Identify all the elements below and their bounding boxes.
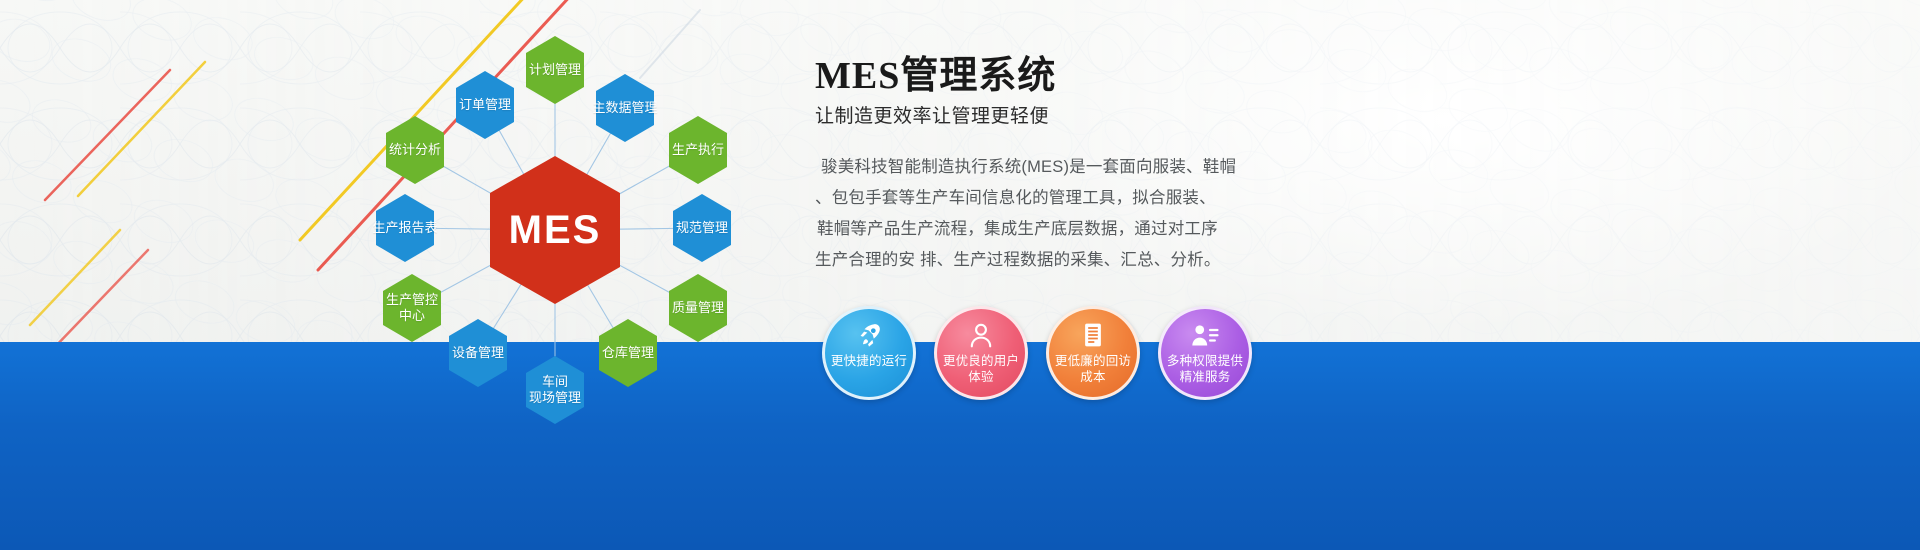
user-icon bbox=[937, 318, 1025, 352]
description-line-2: 、包包手套等生产车间信息化的管理工具，拟合服装、 bbox=[815, 183, 1295, 214]
description-line-4: 生产合理的安 排、生产过程数据的采集、汇总、分析。 bbox=[815, 245, 1295, 276]
badge-label: 多种权限提供 精准服务 bbox=[1165, 353, 1245, 385]
page-title: MES管理系统 bbox=[815, 52, 1295, 100]
hex-label-0[interactable]: 计划管理 bbox=[509, 62, 601, 78]
hex-label-5[interactable]: 生产报告表 bbox=[359, 220, 451, 236]
mes-hex-diagram: MES 计划管理 订单管理 主数据管理 统计分析 生产执行 生产报告表 规范管理… bbox=[330, 20, 780, 440]
hex-label-3[interactable]: 统计分析 bbox=[369, 142, 461, 158]
hex-label-11[interactable]: 车间 现场管理 bbox=[509, 374, 601, 406]
hex-label-10[interactable]: 仓库管理 bbox=[582, 345, 674, 361]
description-line-3: 鞋帽等产品生产流程，集成生产底层数据，通过对工序 bbox=[815, 214, 1295, 245]
hex-label-9[interactable]: 设备管理 bbox=[432, 345, 524, 361]
rocket-icon bbox=[825, 318, 913, 352]
hex-label-6[interactable]: 规范管理 bbox=[656, 220, 748, 236]
feature-badges: 更快捷的运行 更优良的用户 体验 bbox=[822, 306, 1272, 404]
user-list-icon bbox=[1161, 318, 1249, 352]
hex-label-2[interactable]: 主数据管理 bbox=[579, 100, 671, 116]
badge-better-user-experience[interactable]: 更优良的用户 体验 bbox=[934, 306, 1028, 400]
hex-center-label: MES bbox=[480, 208, 630, 253]
mes-banner: MES 计划管理 订单管理 主数据管理 统计分析 生产执行 生产报告表 规范管理… bbox=[0, 0, 1920, 550]
badge-faster-operation[interactable]: 更快捷的运行 bbox=[822, 306, 916, 400]
text-column: MES管理系统 让制造更效率让管理更轻便 骏美科技智能制造执行系统(MES)是一… bbox=[815, 52, 1295, 276]
hex-label-4[interactable]: 生产执行 bbox=[652, 142, 744, 158]
description-block: 骏美科技智能制造执行系统(MES)是一套面向服装、鞋帽 、包包手套等生产车间信息… bbox=[815, 152, 1295, 276]
badge-lower-revisit-cost[interactable]: 更低廉的回访 成本 bbox=[1046, 306, 1140, 400]
badge-label: 更低廉的回访 成本 bbox=[1053, 353, 1133, 385]
description-line-1: 骏美科技智能制造执行系统(MES)是一套面向服装、鞋帽 bbox=[815, 152, 1295, 183]
page-subtitle: 让制造更效率让管理更轻便 bbox=[815, 104, 1295, 130]
hex-label-1[interactable]: 订单管理 bbox=[439, 97, 531, 113]
badge-label: 更优良的用户 体验 bbox=[941, 353, 1021, 385]
hex-label-7[interactable]: 生产管控 中心 bbox=[366, 292, 458, 324]
document-icon bbox=[1049, 318, 1137, 352]
hex-label-8[interactable]: 质量管理 bbox=[652, 300, 744, 316]
badge-label: 更快捷的运行 bbox=[829, 353, 909, 369]
badge-permission-precise-service[interactable]: 多种权限提供 精准服务 bbox=[1158, 306, 1252, 400]
